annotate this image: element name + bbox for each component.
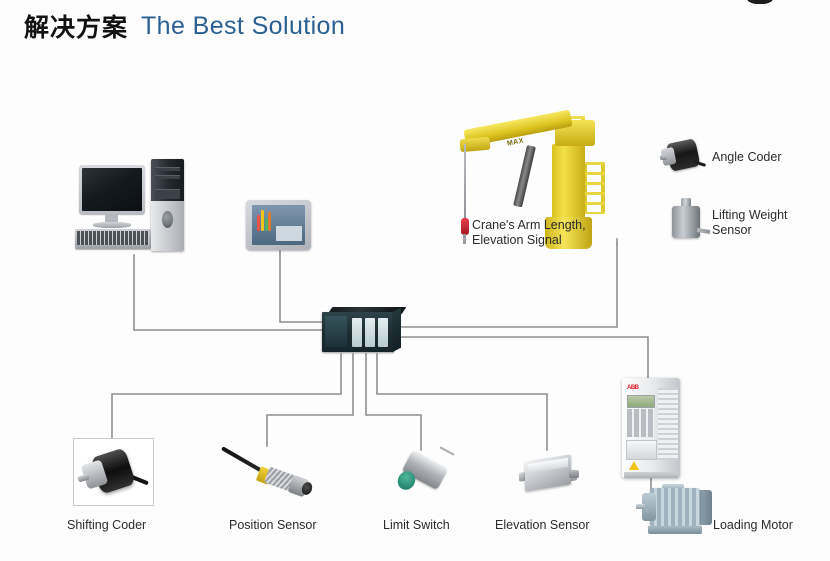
angle-coder-device[interactable] [660, 139, 706, 175]
crane-column [552, 144, 585, 222]
plc-cpu-module [325, 316, 347, 347]
industrial-pc[interactable] [75, 165, 195, 260]
elevation-sensor-housing [525, 454, 571, 491]
wire-plc-to-elevation-sensor [377, 354, 547, 450]
vfd-lower-panel [626, 440, 657, 460]
vfd-brand-logo: ABB [627, 385, 639, 391]
motor-shaft [636, 504, 645, 509]
encoder-shaft [660, 155, 667, 160]
diagram-canvas: 解决方案The Best Solution [0, 0, 830, 561]
hmi-bezel [246, 200, 311, 250]
wire-plc-to-limit-switch [366, 354, 421, 450]
load-cell-body [672, 206, 700, 238]
wire-hmi-to-plc [280, 251, 322, 322]
wire-plc-to-shifting-coder [112, 354, 341, 438]
crane-brand-text: MAX [506, 137, 524, 147]
keyboard-icon [75, 229, 151, 249]
angle-coder-label: Angle Coder [712, 150, 782, 165]
monitor-stand-base [93, 222, 131, 228]
limit-switch-device[interactable] [395, 450, 455, 500]
crane-wire-rope [464, 144, 466, 224]
crane-hook-block [461, 218, 469, 235]
plc-front-face [322, 312, 394, 352]
elevation-sensor-label: Elevation Sensor [495, 518, 590, 532]
monitor-icon [79, 165, 145, 214]
lifting-weight-sensor-label: Lifting Weight Sensor [712, 208, 788, 238]
wire-pc-to-plc [134, 255, 322, 330]
vfd-enclosure: ABB [622, 378, 680, 478]
plc-rack[interactable] [322, 307, 402, 354]
elevation-sensor-device[interactable] [519, 450, 583, 498]
wire-plc-to-vfd [402, 337, 648, 378]
position-sensor-device[interactable] [222, 446, 322, 504]
wire-plc-to-position-sensor [267, 354, 353, 446]
vfd-display [627, 395, 655, 408]
loading-motor-device[interactable] [636, 484, 720, 538]
crane-hook-tip [463, 234, 466, 244]
vfd-base [624, 472, 678, 478]
crane-rail-side [585, 162, 605, 214]
shifting-coder-label: Shifting Coder [67, 518, 146, 532]
motor-finned-frame [650, 488, 700, 527]
elevation-sensor-connector [569, 470, 579, 478]
warning-triangle-icon [629, 461, 639, 470]
limit-switch-label: Limit Switch [383, 518, 450, 532]
hmi-screen [252, 205, 305, 245]
lifting-weight-sensor-device[interactable] [666, 198, 710, 244]
vfd-drive-device[interactable]: ABB [622, 378, 680, 478]
hmi-touch-panel[interactable] [246, 200, 311, 250]
vfd-keypad[interactable] [627, 409, 654, 437]
crane-hydraulic-cylinder [513, 145, 536, 207]
motor-feet [648, 526, 702, 534]
pc-tower-icon [151, 159, 184, 251]
loading-motor-label: Loading Motor [713, 518, 793, 532]
plc-side-panel [392, 308, 401, 353]
position-sensor-label: Position Sensor [229, 518, 317, 532]
crane-signal-label: Crane's Arm Length, Elevation Signal [472, 218, 622, 248]
vfd-cooling-vents [658, 388, 678, 460]
shifting-coder-frame [73, 438, 154, 506]
shifting-coder-device[interactable] [73, 438, 154, 506]
